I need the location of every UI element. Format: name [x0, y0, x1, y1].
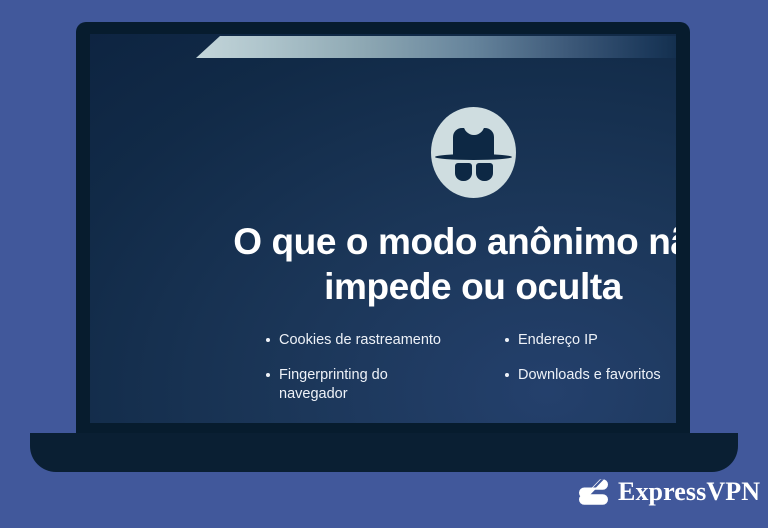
- laptop-illustration: O que o modo anônimo não impede ou ocult…: [0, 0, 768, 528]
- list-item-label: Fingerprinting do navegador: [279, 367, 388, 402]
- list-item: Endereço IP: [505, 331, 676, 350]
- laptop-base: [30, 433, 738, 472]
- incognito-hat-glasses-icon: [431, 107, 516, 198]
- bullet-dot-icon: [505, 338, 509, 342]
- list-item: Fingerprinting do navegador: [266, 366, 457, 404]
- list-item: Downloads e favoritos: [505, 366, 676, 385]
- list-item-label: Cookies de rastreamento: [279, 332, 441, 348]
- expressvpn-logo: ExpressVPN: [578, 476, 760, 508]
- hat-crown-shape: [453, 128, 494, 157]
- expressvpn-e-mark-icon: [578, 476, 609, 508]
- expressvpn-wordmark: ExpressVPN: [618, 477, 760, 507]
- list-item-label: Endereço IP: [518, 332, 598, 348]
- bullet-column-right: Endereço IP Downloads e favoritos: [505, 331, 676, 404]
- bullet-dot-icon: [266, 338, 270, 342]
- list-item: Cookies de rastreamento: [266, 331, 457, 350]
- hat-brim-shape: [435, 154, 512, 160]
- slide-headline: O que o modo anônimo não impede ou ocult…: [180, 219, 676, 309]
- decorative-gradient-bar: [196, 36, 676, 58]
- bullet-dot-icon: [266, 373, 270, 377]
- list-item-label: Downloads e favoritos: [518, 367, 661, 383]
- bullet-dot-icon: [505, 373, 509, 377]
- laptop-screen: O que o modo anônimo não impede ou ocult…: [90, 34, 676, 423]
- slide-bullet-columns: Cookies de rastreamento Fingerprinting d…: [266, 331, 676, 404]
- glasses-lens-left: [455, 163, 472, 181]
- bullet-column-left: Cookies de rastreamento Fingerprinting d…: [266, 331, 457, 404]
- glasses-lens-right: [476, 163, 493, 181]
